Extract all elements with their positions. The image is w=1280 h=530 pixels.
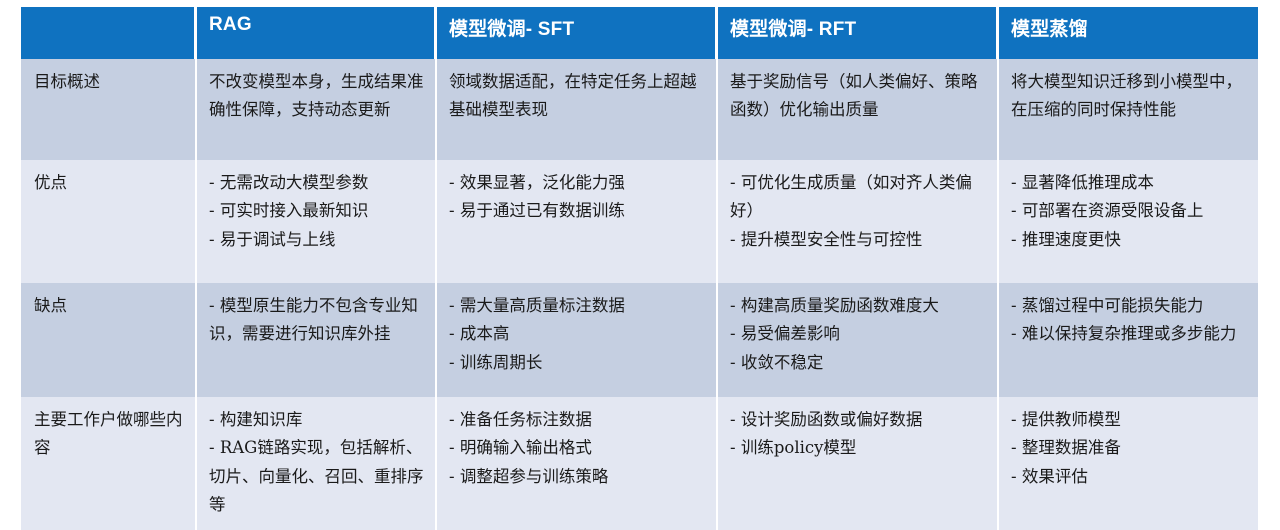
comparison-table-container: RAG 模型微调- SFT 模型微调- RFT 模型蒸馏 目标概述 不改变模型本…	[21, 7, 1258, 530]
cell-main-work-rft: - 设计奖励函数或偏好数据 - 训练policy模型	[718, 397, 999, 530]
table-row: 主要工作户做哪些内容 - 构建知识库 - RAG链路实现，包括解析、切片、向量化…	[21, 397, 1258, 530]
cell-objective-sft: 领域数据适配，在特定任务上超越基础模型表现	[437, 59, 718, 160]
column-header-rowlabel	[21, 7, 197, 59]
cell-objective-rft: 基于奖励信号（如人类偏好、策略函数）优化输出质量	[718, 59, 999, 160]
row-header-main-work: 主要工作户做哪些内容	[21, 397, 197, 530]
row-header-advantages: 优点	[21, 160, 197, 283]
table-header: RAG 模型微调- SFT 模型微调- RFT 模型蒸馏	[21, 7, 1258, 59]
cell-objective-distillation: 将大模型知识迁移到小模型中，在压缩的同时保持性能	[999, 59, 1258, 160]
table-header-row: RAG 模型微调- SFT 模型微调- RFT 模型蒸馏	[21, 7, 1258, 59]
cell-main-work-sft: - 准备任务标注数据 - 明确输入输出格式 - 调整超参与训练策略	[437, 397, 718, 530]
table-body: 目标概述 不改变模型本身，生成结果准确性保障，支持动态更新 领域数据适配，在特定…	[21, 59, 1258, 530]
row-header-disadvantages: 缺点	[21, 283, 197, 397]
cell-main-work-rag: - 构建知识库 - RAG链路实现，包括解析、切片、向量化、召回、重排序等	[197, 397, 437, 530]
cell-disadvantages-distillation: - 蒸馏过程中可能损失能力 - 难以保持复杂推理或多步能力	[999, 283, 1258, 397]
table-row: 缺点 - 模型原生能力不包含专业知识，需要进行知识库外挂 - 需大量高质量标注数…	[21, 283, 1258, 397]
column-header-sft: 模型微调- SFT	[437, 7, 718, 59]
cell-objective-rag: 不改变模型本身，生成结果准确性保障，支持动态更新	[197, 59, 437, 160]
column-header-rft: 模型微调- RFT	[718, 7, 999, 59]
table-row: 优点 - 无需改动大模型参数 - 可实时接入最新知识 - 易于调试与上线 - 效…	[21, 160, 1258, 283]
row-header-objective: 目标概述	[21, 59, 197, 160]
cell-disadvantages-rag: - 模型原生能力不包含专业知识，需要进行知识库外挂	[197, 283, 437, 397]
cell-advantages-rft: - 可优化生成质量（如对齐人类偏好） - 提升模型安全性与可控性	[718, 160, 999, 283]
cell-advantages-rag: - 无需改动大模型参数 - 可实时接入最新知识 - 易于调试与上线	[197, 160, 437, 283]
cell-disadvantages-sft: - 需大量高质量标注数据 - 成本高 - 训练周期长	[437, 283, 718, 397]
model-adaptation-comparison-table: RAG 模型微调- SFT 模型微调- RFT 模型蒸馏 目标概述 不改变模型本…	[21, 7, 1258, 530]
cell-advantages-distillation: - 显著降低推理成本 - 可部署在资源受限设备上 - 推理速度更快	[999, 160, 1258, 283]
column-header-rag: RAG	[197, 7, 437, 59]
column-header-distillation: 模型蒸馏	[999, 7, 1258, 59]
table-row: 目标概述 不改变模型本身，生成结果准确性保障，支持动态更新 领域数据适配，在特定…	[21, 59, 1258, 160]
cell-advantages-sft: - 效果显著，泛化能力强 - 易于通过已有数据训练	[437, 160, 718, 283]
cell-main-work-distillation: - 提供教师模型 - 整理数据准备 - 效果评估	[999, 397, 1258, 530]
cell-disadvantages-rft: - 构建高质量奖励函数难度大 - 易受偏差影响 - 收敛不稳定	[718, 283, 999, 397]
